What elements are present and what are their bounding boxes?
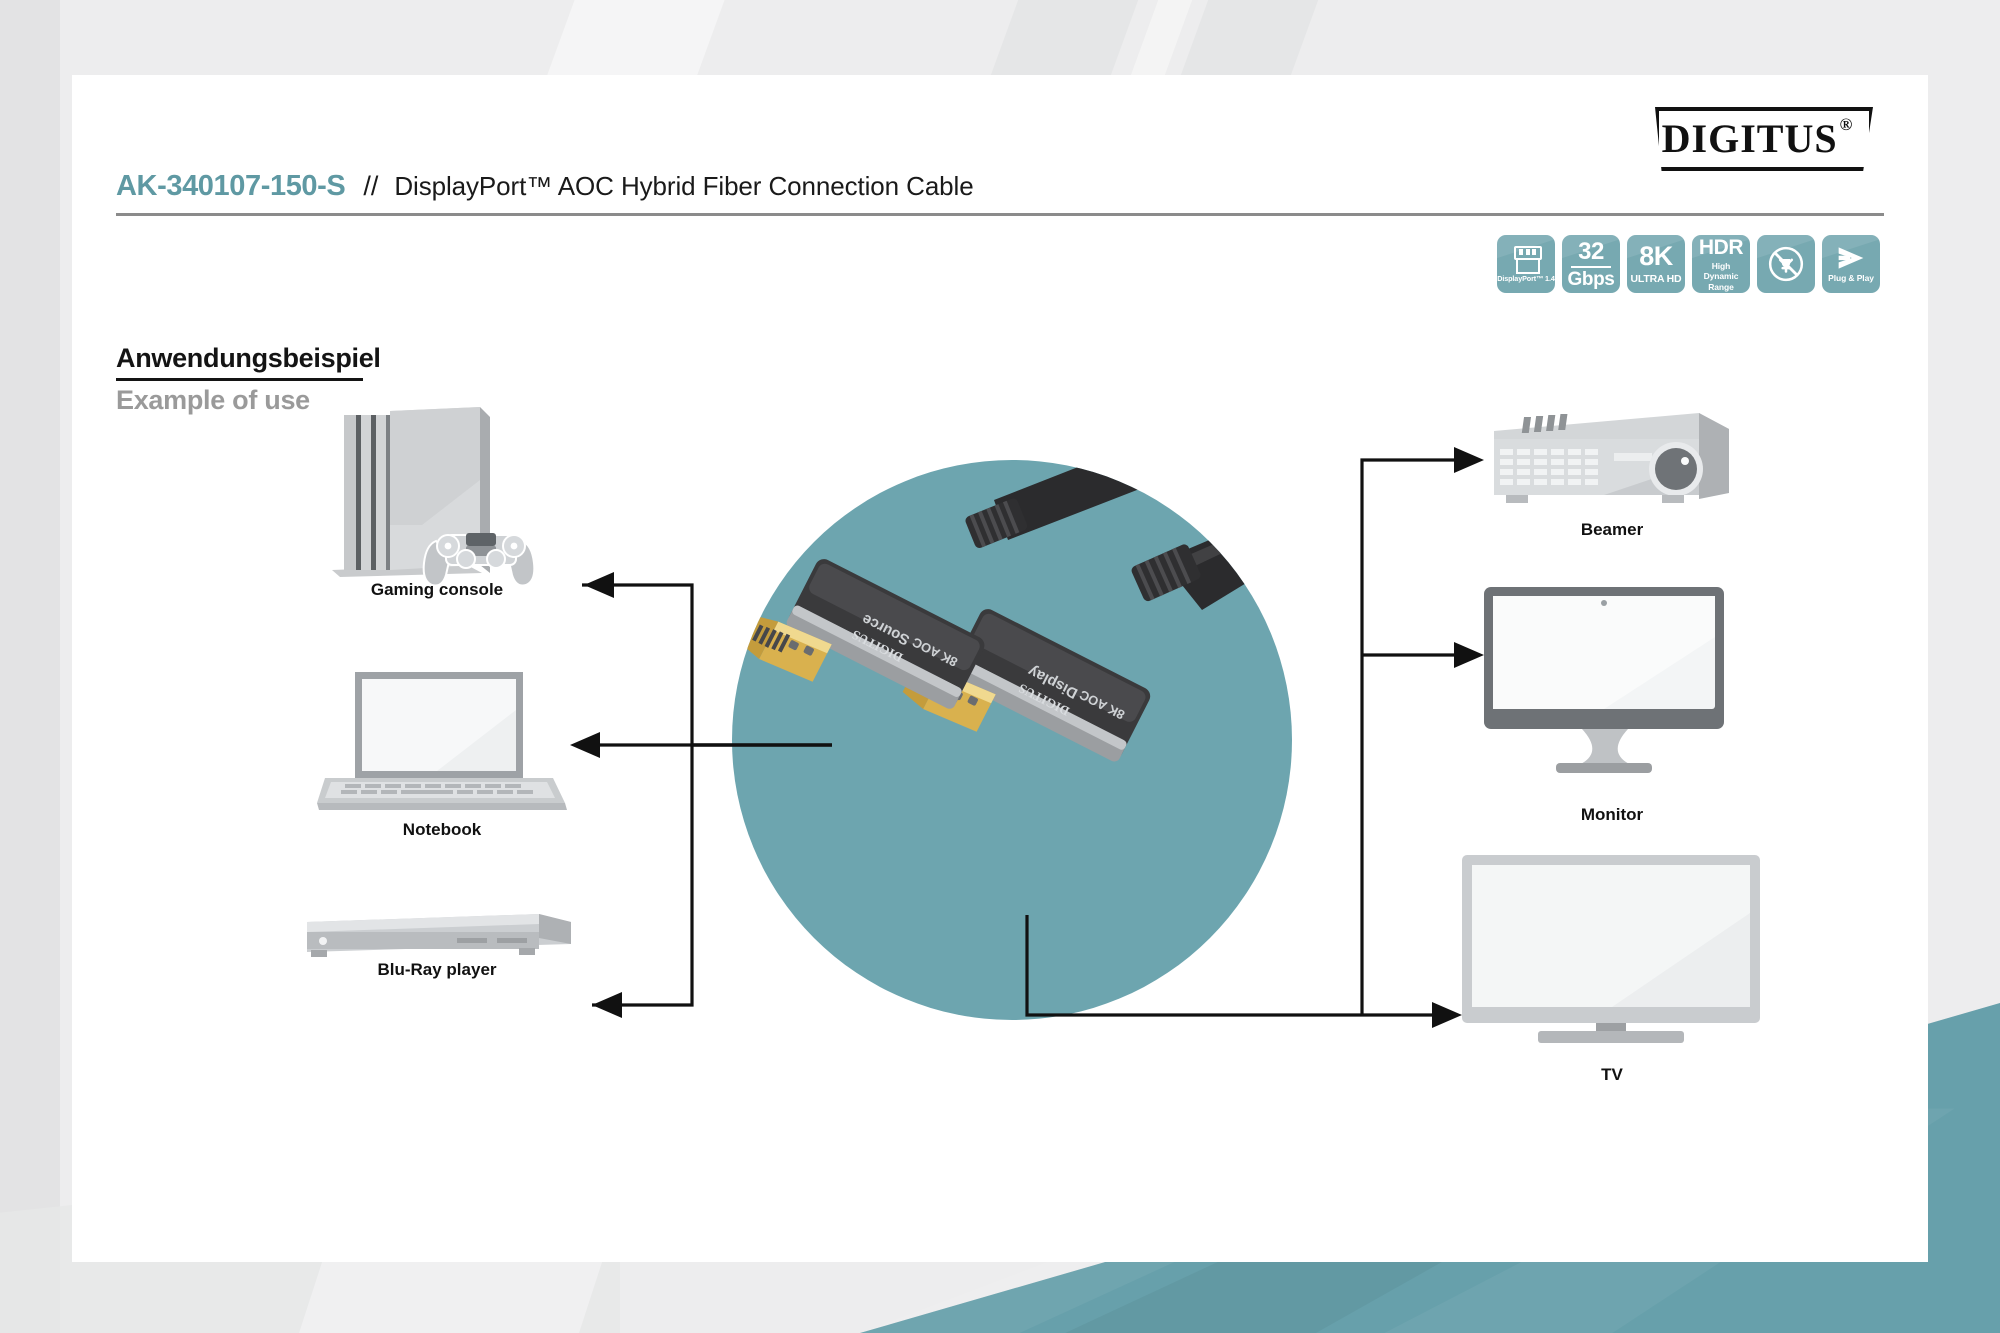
usage-diagram: Gaming console (72, 415, 1928, 1215)
displayport-icon (1511, 246, 1541, 273)
section-heading-en: Example of use (116, 385, 310, 416)
product-title: DisplayPort™ AOC Hybrid Fiber Connection… (394, 171, 973, 202)
hdr-value: HDR (1699, 237, 1743, 258)
section-heading-de: Anwendungsbeispiel (116, 343, 381, 374)
resolution-badge: 8K ULTRA HD (1627, 235, 1685, 293)
plug-play-arrow-icon (1836, 245, 1866, 271)
section-heading-underline (116, 378, 363, 381)
bandwidth-unit: Gbps (1568, 270, 1615, 289)
displayport-badge: DisplayPort™ 1.4 (1497, 235, 1555, 293)
monitor-label: Monitor (1502, 805, 1722, 825)
notebook-illustration (317, 670, 567, 815)
hdr-badge: HDR High Dynamic Range (1692, 235, 1750, 293)
gaming-console-illustration (322, 405, 552, 585)
plug-play-caption: Plug & Play (1828, 274, 1874, 283)
bandwidth-badge: 32 Gbps (1562, 235, 1620, 293)
tv-label: TV (1502, 1065, 1722, 1085)
hdr-sub-3: Range (1704, 283, 1739, 292)
digitus-logo: DIGITUS ® (1655, 107, 1873, 171)
no-power-plug-icon (1766, 244, 1806, 284)
bandwidth-value: 32 (1578, 240, 1604, 264)
page-title: AK-340107-150-S // DisplayPort™ AOC Hybr… (116, 170, 1884, 203)
beamer-label: Beamer (1502, 520, 1722, 540)
gaming-console-label: Gaming console (302, 580, 572, 600)
beamer-illustration (1484, 403, 1734, 513)
resolution-caption: ULTRA HD (1631, 274, 1682, 285)
resolution-value: 8K (1639, 243, 1673, 270)
bluray-player-illustration (307, 900, 577, 960)
logo-wordmark: DIGITUS (1662, 119, 1854, 159)
title-divider (116, 213, 1884, 216)
cable-product-photo: Display DIGITUS 8K AOC (732, 460, 1292, 1020)
displayport-badge-caption: DisplayPort™ 1.4 (1497, 275, 1555, 282)
plug-play-badge: Plug & Play (1822, 235, 1880, 293)
bluray-player-label: Blu-Ray player (302, 960, 572, 980)
feature-badges: DisplayPort™ 1.4 32 Gbps 8K ULTRA HD HDR… (1497, 235, 1880, 293)
no-power-badge (1757, 235, 1815, 293)
content-card: DIGITUS ® AK-340107-150-S // DisplayPort… (72, 75, 1928, 1262)
hdr-sub-2: Dynamic (1704, 272, 1739, 281)
product-sku: AK-340107-150-S (116, 170, 345, 203)
logo-registered-mark: ® (1840, 115, 1853, 135)
title-separator: // (363, 171, 378, 202)
notebook-label: Notebook (322, 820, 562, 840)
hdr-sub-1: High (1704, 262, 1739, 271)
tv-illustration (1462, 855, 1762, 1045)
monitor-illustration (1484, 587, 1729, 777)
